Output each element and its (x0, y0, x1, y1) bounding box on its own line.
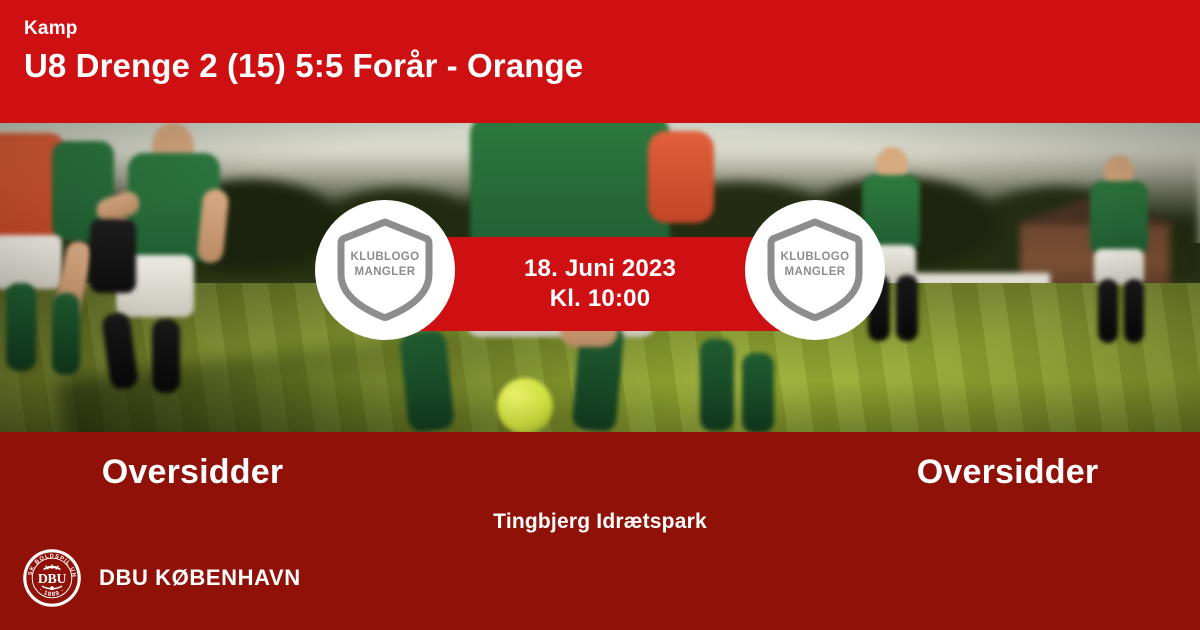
match-date-band: 18. Juni 2023 Kl. 10:00 (420, 237, 780, 331)
match-date: 18. Juni 2023 (524, 254, 676, 284)
home-logo-text: KLUBLOGO MANGLER (337, 250, 433, 280)
shield-placeholder-icon: KLUBLOGO MANGLER (767, 218, 863, 322)
page-title: U8 Drenge 2 (15) 5:5 Forår - Orange (24, 44, 1200, 88)
match-datetime: 18. Juni 2023 Kl. 10:00 (420, 237, 780, 331)
home-team-name: Oversidder (0, 450, 600, 494)
brand-lockup: DANSK BOLDSPIL UNION · 1889 · DBU DBU KØ… (22, 548, 301, 608)
away-club-logo[interactable]: KLUBLOGO MANGLER (745, 200, 885, 340)
team-names: Oversidder Oversidder (0, 450, 1200, 494)
poster-header: Kamp U8 Drenge 2 (15) 5:5 Forår - Orange (0, 0, 1200, 123)
away-logo-line2: MANGLER (767, 265, 863, 280)
home-logo-line2: MANGLER (337, 265, 433, 280)
header-kicker: Kamp (24, 18, 1200, 40)
venue-name: Tingbjerg Idrætspark (0, 510, 1200, 534)
svg-text:DBU: DBU (38, 571, 67, 586)
away-logo-line1: KLUBLOGO (767, 250, 863, 265)
brand-name: DBU KØBENHAVN (99, 565, 301, 591)
shield-placeholder-icon: KLUBLOGO MANGLER (337, 218, 433, 322)
home-club-logo[interactable]: KLUBLOGO MANGLER (315, 200, 455, 340)
match-time: Kl. 10:00 (550, 284, 651, 314)
away-logo-text: KLUBLOGO MANGLER (767, 250, 863, 280)
away-team-name: Oversidder (600, 450, 1200, 494)
match-poster: Kamp U8 Drenge 2 (15) 5:5 Forår - Orange (0, 0, 1200, 630)
home-logo-line1: KLUBLOGO (337, 250, 433, 265)
dbu-seal-icon: DANSK BOLDSPIL UNION · 1889 · DBU (22, 548, 82, 608)
